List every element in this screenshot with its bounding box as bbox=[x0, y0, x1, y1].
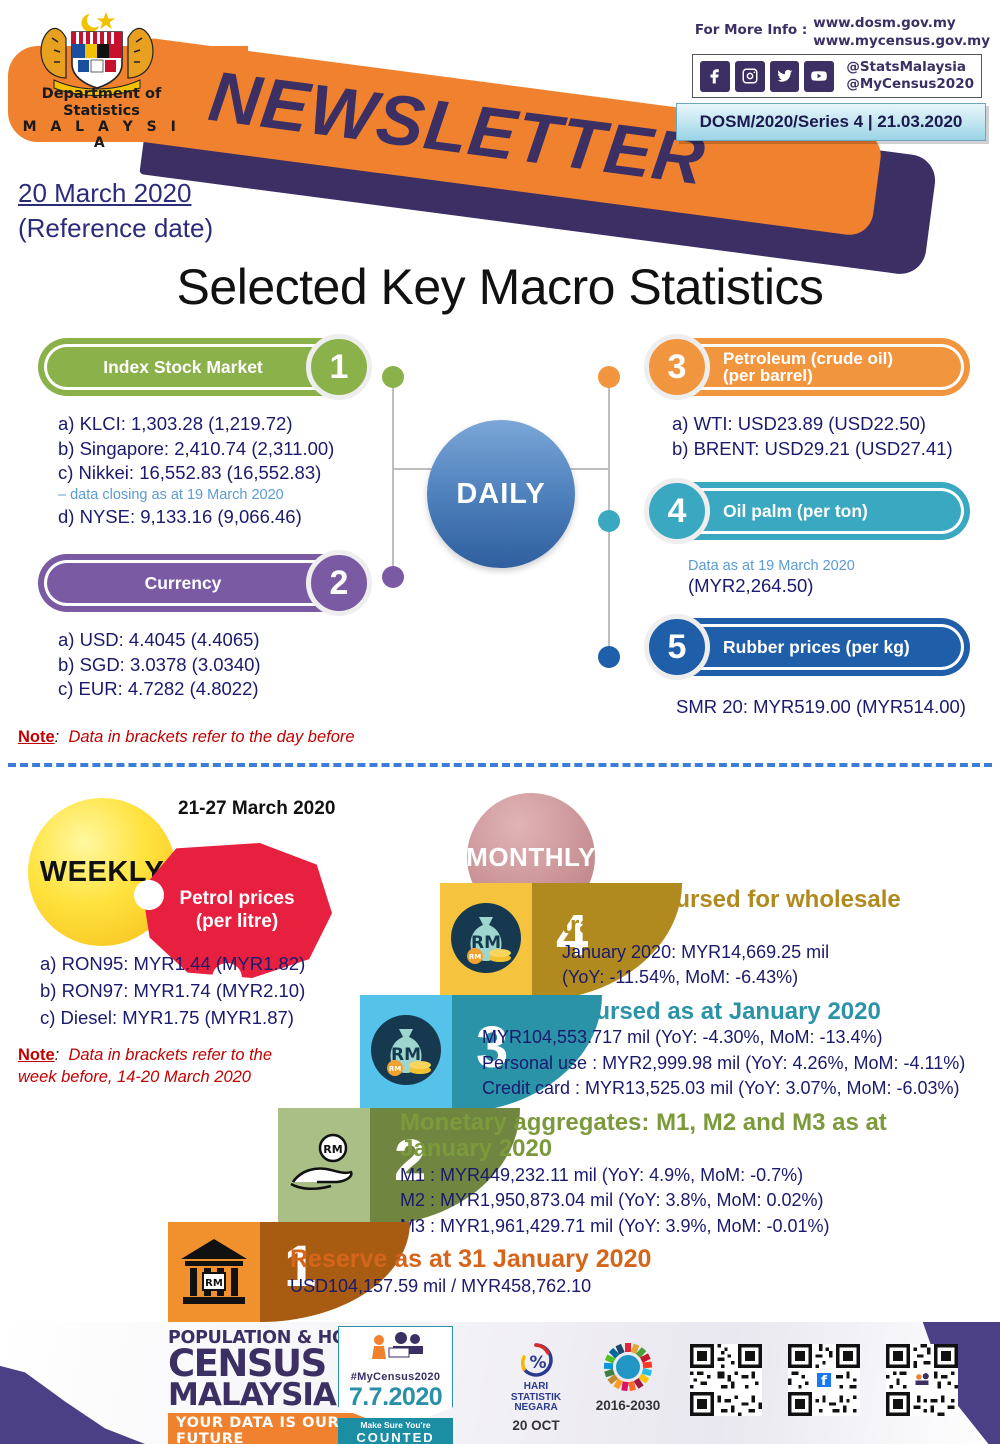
counted-line1: Make Sure You're bbox=[338, 1420, 453, 1430]
dot-petroleum bbox=[598, 366, 620, 388]
page-footer: POPULATION & HOUSING CENSUS MALAYSIA YOU… bbox=[0, 1322, 1000, 1444]
social-media-box: @StatsMalaysia @MyCensus2020 bbox=[692, 54, 982, 98]
dot-index-stock-market bbox=[382, 366, 404, 388]
hari-line3: NEGARA bbox=[492, 1403, 580, 1414]
step-1-icon-cell: RM bbox=[168, 1222, 260, 1322]
daily-note: Note: Data in brackets refer to the day … bbox=[18, 726, 355, 748]
step-4-icon-cell: RM RM bbox=[440, 883, 532, 1001]
svg-text:RM: RM bbox=[323, 1143, 342, 1156]
label-petrol-line1: Petrol prices bbox=[179, 888, 294, 911]
petrol-line-ron97: b) RON97: MYR1.74 (MYR2.10) bbox=[40, 977, 305, 1004]
step-2-line-m2: M2 : MYR1,950,873.04 mil (YoY: 3.8%, MoM… bbox=[400, 1188, 1000, 1214]
hand-coin-icon: RM bbox=[287, 1132, 361, 1198]
card-petroleum[interactable]: Petroleum (crude oil) (per barrel) 3 bbox=[648, 338, 970, 396]
step-2-heading-l1: Monetary aggregates: M1, M2 and M3 as at bbox=[400, 1110, 1000, 1136]
money-bag-icon: RM RM bbox=[369, 1013, 443, 1087]
puzzle-notch-left bbox=[134, 880, 164, 910]
label-petrol-line2: (per litre) bbox=[196, 911, 278, 934]
stock-line-nyse: d) NYSE: 9,133.16 (9,066.46) bbox=[58, 505, 334, 530]
facebook-icon[interactable] bbox=[700, 61, 730, 92]
hari-statistik-logo: % HARI STATISTIK NEGARA 20 OCT bbox=[492, 1342, 580, 1433]
qr-code-dosm[interactable] bbox=[690, 1344, 762, 1416]
step-4-heading-l2: trade bbox=[562, 913, 1000, 939]
connector-right-horizontal bbox=[565, 468, 610, 470]
weekly-note-text-l2: week before, 14-20 March 2020 bbox=[18, 1066, 338, 1088]
content-petrol-prices: a) RON95: MYR1.44 (MYR1.82) b) RON97: MY… bbox=[40, 950, 305, 1031]
sdg-logo: 2016-2030 bbox=[578, 1342, 678, 1413]
content-rubber: SMR 20: MYR519.00 (MYR514.00) bbox=[676, 695, 966, 720]
step-3-content: Loan disbursed as at January 2020 MYR104… bbox=[482, 999, 1000, 1102]
weekly-note-label: Note bbox=[18, 1046, 55, 1064]
handle-mycensus: @MyCensus2020 bbox=[846, 76, 974, 93]
step-1-content: Reserve as at 31 January 2020 USD104,157… bbox=[290, 1246, 890, 1299]
step-2-line-m1: M1 : MYR449,232.11 mil (YoY: 4.9%, MoM: … bbox=[400, 1163, 1000, 1189]
number-badge-4: 4 bbox=[644, 478, 710, 544]
website-dosm-link[interactable]: www.dosm.gov.my bbox=[813, 14, 990, 32]
for-more-info-label: For More Info : bbox=[695, 14, 807, 38]
step-3-line-3: Credit card : MYR13,525.03 mil (YoY: 3.0… bbox=[482, 1076, 1000, 1102]
svg-text:f: f bbox=[821, 1373, 828, 1389]
content-index-stock-market: a) KLCI: 1,303.28 (1,219.72) b) Singapor… bbox=[58, 412, 334, 530]
dot-currency bbox=[382, 566, 404, 588]
page-header: NEWSLETTER bbox=[0, 0, 1000, 175]
census-people-icon bbox=[365, 1332, 427, 1366]
content-oil-palm: Data as at 19 March 2020 (MYR2,264.50) bbox=[688, 558, 855, 599]
newsletter-page: NEWSLETTER bbox=[0, 0, 1000, 1444]
page-title: Selected Key Macro Statistics bbox=[0, 258, 1000, 316]
step-3-line-1: MYR104,553.717 mil (YoY: -4.30%, MoM: -1… bbox=[482, 1025, 1000, 1051]
twitter-icon[interactable] bbox=[770, 61, 800, 92]
step-3-line-2: Personal use : MYR2,999.98 mil (YoY: 4.2… bbox=[482, 1051, 1000, 1077]
label-petroleum-line1: Petroleum (crude oil) bbox=[723, 350, 893, 367]
content-petroleum: a) WTI: USD23.89 (USD22.50) b) BRENT: US… bbox=[672, 412, 953, 461]
department-name: Department of Statistics M A L A Y S I A bbox=[14, 86, 189, 152]
step-1-heading-l1: Reserve as at 31 January 2020 bbox=[290, 1246, 890, 1274]
currency-line-sgd: b) SGD: 3.0378 (3.0340) bbox=[58, 653, 261, 678]
money-bag-icon: RM RM bbox=[449, 901, 523, 975]
reference-date: 20 March 2020 bbox=[18, 176, 213, 211]
stock-line-nikkei: c) Nikkei: 16,552.83 (16,552.83) bbox=[58, 461, 334, 486]
counted-badge: Make Sure You're COUNTED bbox=[338, 1418, 453, 1444]
step-4-line-2: (YoY: -11.54%, MoM: -6.43%) bbox=[562, 965, 1000, 991]
card-index-stock-market[interactable]: Index Stock Market 1 bbox=[38, 338, 368, 396]
svg-text:RM: RM bbox=[469, 953, 481, 961]
bank-icon: RM bbox=[179, 1235, 249, 1309]
step-2-heading-l2: January 2020 bbox=[400, 1136, 1000, 1162]
sdg-wheel-icon bbox=[603, 1342, 653, 1392]
petroleum-line-brent: b) BRENT: USD29.21 (USD27.41) bbox=[672, 437, 953, 462]
oil-palm-value: (MYR2,264.50) bbox=[688, 574, 855, 599]
label-currency: Currency bbox=[145, 573, 222, 594]
reference-date-block: 20 March 2020 (Reference date) bbox=[18, 176, 213, 246]
qr-code-mycensus[interactable] bbox=[886, 1344, 958, 1416]
department-line1: Department of Statistics bbox=[14, 86, 189, 119]
petroleum-line-wti: a) WTI: USD23.89 (USD22.50) bbox=[672, 412, 953, 437]
currency-line-usd: a) USD: 4.4045 (4.4065) bbox=[58, 628, 261, 653]
step-2-content: Monetary aggregates: M1, M2 and M3 as at… bbox=[400, 1110, 1000, 1239]
card-oil-palm[interactable]: Oil palm (per ton) 4 bbox=[648, 482, 970, 540]
number-badge-3: 3 bbox=[644, 334, 710, 400]
dot-rubber bbox=[598, 646, 620, 668]
mycensus-hashtag: #MyCensus2020 bbox=[339, 1371, 452, 1383]
step-4-heading-l1: Loan disbursed for wholesale bbox=[562, 887, 1000, 913]
reference-date-label: (Reference date) bbox=[18, 211, 213, 246]
petrol-line-ron95: a) RON95: MYR1.44 (MYR1.82) bbox=[40, 950, 305, 977]
step-4-line-1: January 2020: MYR14,669.25 mil bbox=[562, 940, 1000, 966]
hari-line1: HARI bbox=[492, 1382, 580, 1393]
number-badge-5: 5 bbox=[644, 614, 710, 680]
svg-text:%: % bbox=[529, 1353, 546, 1373]
sdg-date-range: 2016-2030 bbox=[578, 1398, 678, 1413]
youtube-icon[interactable] bbox=[804, 61, 834, 92]
connector-left-vertical bbox=[392, 376, 394, 576]
daily-note-text: Data in brackets refer to the day before bbox=[68, 728, 354, 746]
dot-oil-palm bbox=[598, 510, 620, 532]
mycensus-date: 7.7.2020 bbox=[339, 1383, 452, 1412]
stock-line-singapore: b) Singapore: 2,410.74 (2,311.00) bbox=[58, 437, 334, 462]
step-4-content: Loan disbursed for wholesale trade Janua… bbox=[562, 887, 1000, 991]
oil-palm-subnote: Data as at 19 March 2020 bbox=[688, 558, 855, 574]
contact-block: For More Info : www.dosm.gov.my www.myce… bbox=[660, 14, 990, 98]
website-mycensus-link[interactable]: www.mycensus.gov.my bbox=[813, 32, 990, 50]
stock-subnote: – data closing as at 19 March 2020 bbox=[58, 486, 334, 505]
handle-statsmalaysia: @StatsMalaysia bbox=[846, 59, 974, 76]
weekly-date-range: 21-27 March 2020 bbox=[178, 798, 335, 820]
weekly-note: Note: Data in brackets refer to the week… bbox=[18, 1044, 338, 1089]
series-badge: DOSM/2020/Series 4 | 21.03.2020 bbox=[676, 103, 986, 141]
hari-date: 20 OCT bbox=[492, 1418, 580, 1433]
hari-statistik-icon: % bbox=[512, 1342, 560, 1382]
section-divider bbox=[8, 763, 992, 767]
qr-code-facebook[interactable]: f bbox=[788, 1344, 860, 1416]
step-2-line-m3: M3 : MYR1,961,429.71 mil (YoY: 3.9%, MoM… bbox=[400, 1214, 1000, 1240]
rubber-line-smr20: SMR 20: MYR519.00 (MYR514.00) bbox=[676, 695, 966, 720]
daily-note-label: Note bbox=[18, 728, 55, 746]
svg-text:RM: RM bbox=[205, 1278, 223, 1289]
stock-line-klci: a) KLCI: 1,303.28 (1,219.72) bbox=[58, 412, 334, 437]
label-petroleum-line2: (per barrel) bbox=[723, 367, 813, 384]
svg-text:RM: RM bbox=[389, 1065, 401, 1073]
counted-line2: COUNTED bbox=[338, 1430, 453, 1444]
weekly-note-text-l1: Data in brackets refer to the bbox=[68, 1046, 272, 1064]
petrol-line-diesel: c) Diesel: MYR1.75 (MYR1.87) bbox=[40, 1004, 305, 1031]
card-currency[interactable]: Currency 2 bbox=[38, 554, 368, 612]
department-line2: M A L A Y S I A bbox=[14, 119, 189, 151]
daily-hub: DAILY bbox=[427, 420, 575, 568]
number-badge-1: 1 bbox=[306, 334, 372, 400]
step-3-heading-l1: Loan disbursed as at January 2020 bbox=[482, 999, 1000, 1025]
card-rubber[interactable]: Rubber prices (per kg) 5 bbox=[648, 618, 970, 676]
label-rubber: Rubber prices (per kg) bbox=[723, 637, 910, 658]
instagram-icon[interactable] bbox=[735, 61, 765, 92]
label-index-stock-market: Index Stock Market bbox=[103, 357, 263, 378]
daily-section: DAILY Index Stock Market 1 a) KLCI: 1,30… bbox=[0, 330, 1000, 750]
step-1-line-1: USD104,157.59 mil / MYR458,762.10 bbox=[290, 1274, 890, 1300]
step-2-icon-cell: RM bbox=[278, 1108, 370, 1226]
number-badge-2: 2 bbox=[306, 550, 372, 616]
label-oil-palm: Oil palm (per ton) bbox=[723, 501, 868, 522]
currency-line-eur: c) EUR: 4.7282 (4.8022) bbox=[58, 677, 261, 702]
step-3-icon-cell: RM RM bbox=[360, 995, 452, 1113]
content-currency: a) USD: 4.4045 (4.4065) b) SGD: 3.0378 (… bbox=[58, 628, 261, 702]
